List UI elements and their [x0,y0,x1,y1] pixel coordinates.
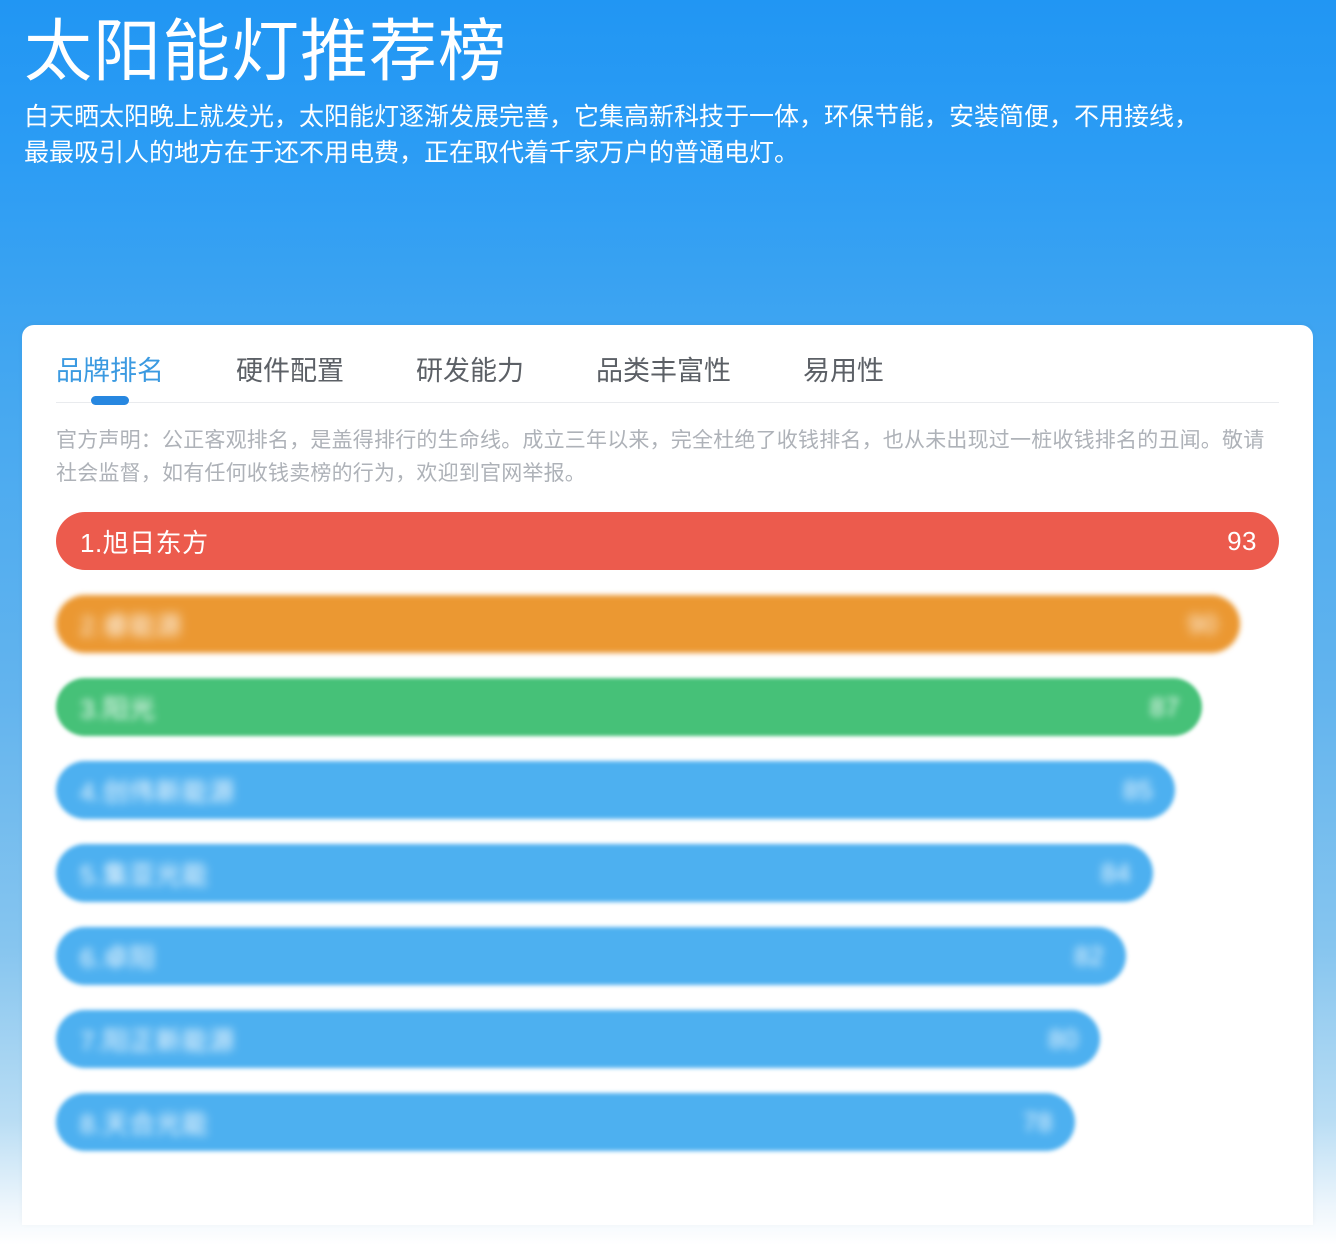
hero-header: 太阳能灯推荐榜 白天晒太阳晚上就发光，太阳能灯逐渐发展完善，它集高新科技于一体，… [0,0,1336,171]
ranking-row[interactable]: 6.卓阳82 [56,927,1279,997]
tab-1[interactable]: 硬件配置 [236,349,344,402]
ranking-score: 90 [1188,609,1218,640]
tab-bar: 品牌排名硬件配置研发能力品类丰富性易用性 [56,325,1279,403]
ranking-bar[interactable]: 2.睿能源90 [56,595,1240,653]
ranking-card: 品牌排名硬件配置研发能力品类丰富性易用性 官方声明：公正客观排名，是盖得排行的生… [22,325,1313,1225]
ranking-bar[interactable]: 1.旭日东方93 [56,512,1279,570]
ranking-brand-label: 5.集亚光能 [80,855,209,892]
ranking-score: 85 [1123,775,1153,806]
ranking-bar[interactable]: 8.天合光能78 [56,1093,1075,1151]
ranking-bar[interactable]: 7.阳正新能源80 [56,1010,1100,1068]
hero-description: 白天晒太阳晚上就发光，太阳能灯逐渐发展完善，它集高新科技于一体，环保节能，安装简… [24,100,1204,171]
ranking-score: 82 [1074,941,1104,972]
ranking-bar[interactable]: 5.集亚光能84 [56,844,1153,902]
tab-2[interactable]: 研发能力 [416,349,524,402]
tab-0[interactable]: 品牌排名 [56,349,164,402]
ranking-bar[interactable]: 6.卓阳82 [56,927,1126,985]
ranking-row[interactable]: 4.创伟新能源85 [56,761,1279,831]
ranking-bar[interactable]: 4.创伟新能源85 [56,761,1175,819]
tab-3[interactable]: 品类丰富性 [596,349,731,402]
ranking-brand-label: 1.旭日东方 [80,523,209,560]
ranking-score: 80 [1049,1024,1079,1055]
ranking-brand-label: 3.阳光 [80,689,156,726]
ranking-score: 87 [1150,692,1180,723]
ranking-brand-label: 4.创伟新能源 [80,772,235,809]
page-title: 太阳能灯推荐榜 [24,14,1312,90]
ranking-brand-label: 6.卓阳 [80,938,156,975]
ranking-row[interactable]: 1.旭日东方93 [56,512,1279,582]
ranking-brand-label: 8.天合光能 [80,1104,209,1141]
official-disclaimer: 官方声明：公正客观排名，是盖得排行的生命线。成立三年以来，完全杜绝了收钱排名，也… [56,425,1279,490]
ranking-bar[interactable]: 3.阳光87 [56,678,1202,736]
ranking-bar-list: 1.旭日东方932.睿能源903.阳光874.创伟新能源855.集亚光能846.… [56,512,1279,1163]
ranking-score: 78 [1023,1107,1053,1138]
ranking-score: 93 [1227,526,1257,557]
ranking-row[interactable]: 3.阳光87 [56,678,1279,748]
ranking-row[interactable]: 7.阳正新能源80 [56,1010,1279,1080]
ranking-brand-label: 2.睿能源 [80,606,182,643]
ranking-row[interactable]: 8.天合光能78 [56,1093,1279,1163]
ranking-score: 84 [1101,858,1131,889]
ranking-brand-label: 7.阳正新能源 [80,1021,235,1058]
ranking-row[interactable]: 5.集亚光能84 [56,844,1279,914]
tab-4[interactable]: 易用性 [803,349,884,402]
ranking-row[interactable]: 2.睿能源90 [56,595,1279,665]
